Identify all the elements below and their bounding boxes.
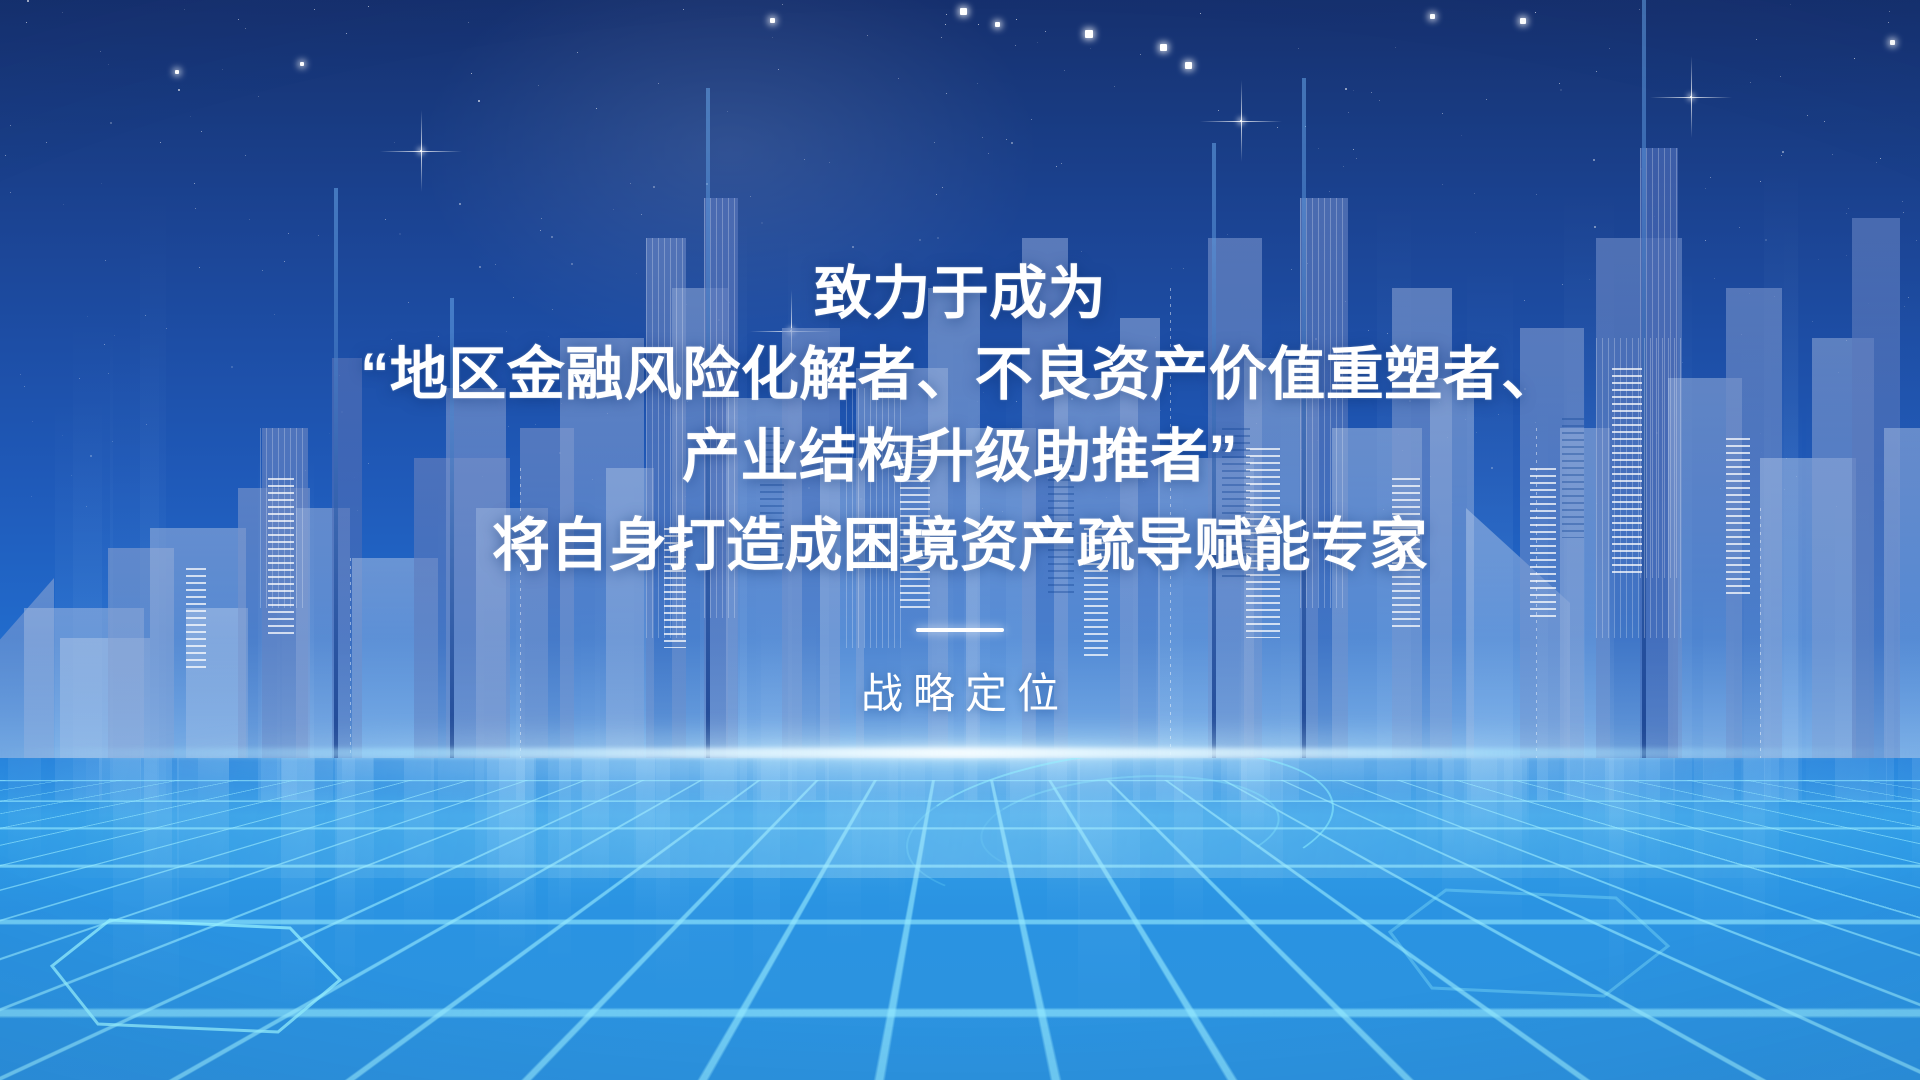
title-divider: [916, 628, 1004, 632]
slide-content: 致力于成为 “地区金融风险化解者、不良资产价值重塑者、 产业结构升级助推者” 将…: [0, 0, 1920, 1080]
subtitle-label: 战略定位: [851, 660, 1069, 721]
presentation-slide: 致力于成为 “地区金融风险化解者、不良资产价值重塑者、 产业结构升级助推者” 将…: [0, 0, 1920, 1080]
headline-line-2: “地区金融风险化解者、不良资产价值重塑者、: [360, 337, 1560, 412]
headline-line-4: 将自身打造成困境资产疏导赋能专家: [360, 508, 1560, 583]
headline-line-1: 致力于成为: [360, 256, 1560, 331]
headline-line-3: 产业结构升级助推者”: [360, 419, 1560, 494]
headline-block: 致力于成为 “地区金融风险化解者、不良资产价值重塑者、 产业结构升级助推者” 将…: [360, 256, 1560, 584]
